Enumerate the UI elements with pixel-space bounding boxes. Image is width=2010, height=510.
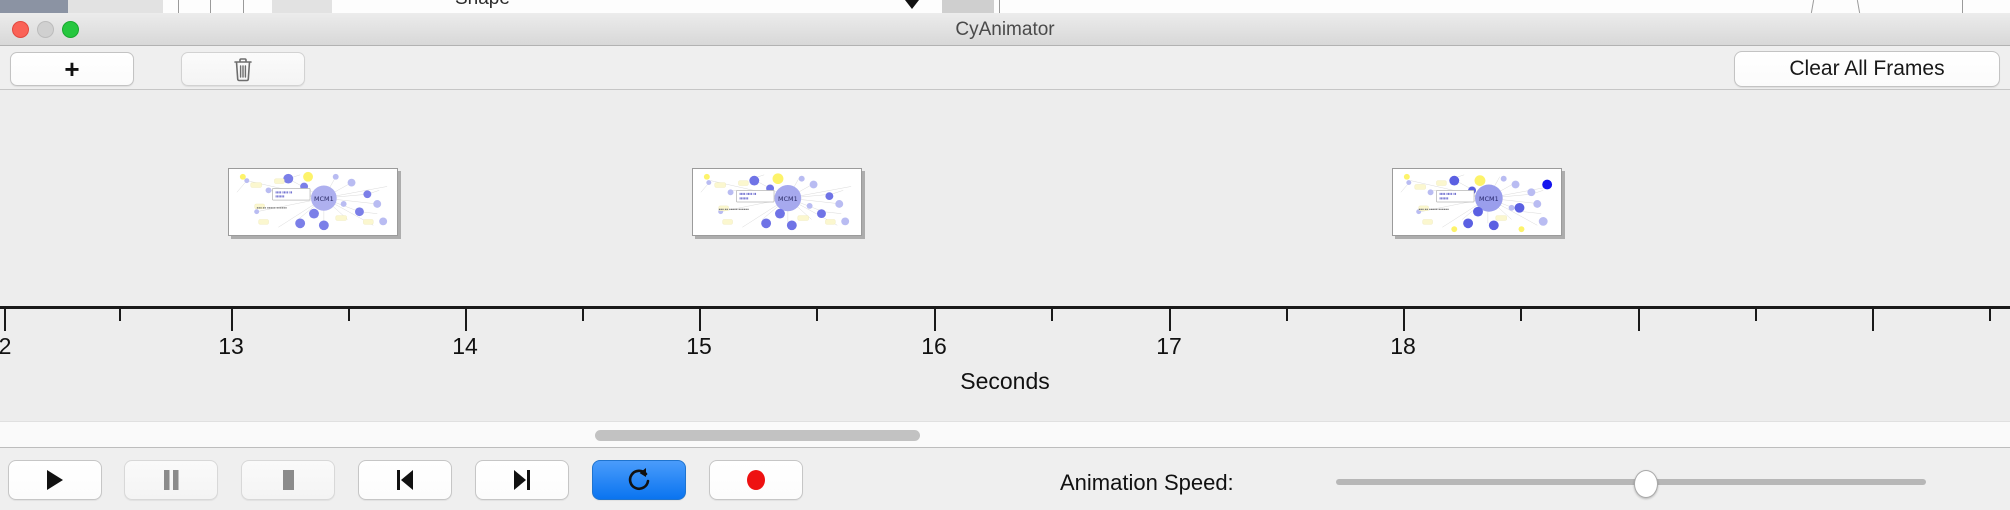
bg-chip bbox=[0, 0, 68, 13]
svg-text:▮▮▮▮▮▮: ▮▮▮▮▮▮ bbox=[1439, 196, 1449, 200]
svg-text:MCM1: MCM1 bbox=[314, 196, 334, 203]
ruler-tick-major bbox=[1872, 309, 1874, 331]
add-frame-button[interactable]: + bbox=[10, 52, 134, 86]
record-button[interactable] bbox=[709, 460, 803, 500]
svg-text:MCM1: MCM1 bbox=[1479, 196, 1499, 203]
title-bar: CyAnimator bbox=[0, 13, 2010, 46]
ruler-tick-minor bbox=[1989, 309, 1991, 321]
skip-back-icon bbox=[394, 468, 416, 492]
ruler-label: 13 bbox=[218, 333, 244, 360]
bg-shade bbox=[68, 0, 163, 13]
svg-text:▮▮▮▮ ▮▮▮▮ ▮▮: ▮▮▮▮ ▮▮▮▮ ▮▮ bbox=[739, 192, 756, 196]
bg-divider bbox=[1811, 0, 1814, 13]
playback-controls: Animation Speed: bbox=[0, 448, 2010, 510]
animation-speed-slider-track[interactable] bbox=[1336, 479, 1926, 485]
svg-text:▪▪▪ ▪▪ ▪▪▪▪▪ ▪▪▪▪▪▪: ▪▪▪ ▪▪ ▪▪▪▪▪ ▪▪▪▪▪▪ bbox=[719, 208, 749, 211]
bg-divider bbox=[210, 0, 211, 13]
bg-divider bbox=[999, 0, 1000, 13]
svg-text:MCM1: MCM1 bbox=[778, 196, 798, 203]
ruler-label: 14 bbox=[452, 333, 478, 360]
cyanimator-window: Shape CyAnimator + Clear bbox=[0, 0, 2010, 510]
ruler-tick-major bbox=[4, 309, 6, 331]
ruler-tick-minor bbox=[1286, 309, 1288, 321]
ruler-label: 2 bbox=[0, 333, 11, 360]
ruler-label: 17 bbox=[1156, 333, 1182, 360]
play-icon bbox=[44, 468, 66, 492]
ruler-tick-minor bbox=[1755, 309, 1757, 321]
timeline-panel[interactable]: MCM1 bbox=[0, 90, 2010, 421]
axis-title: Seconds bbox=[0, 368, 2010, 395]
bg-divider bbox=[1962, 0, 1963, 13]
toolbar: + Clear All Frames bbox=[0, 46, 2010, 90]
ruler-tick-minor bbox=[1051, 309, 1053, 321]
ruler-tick-minor bbox=[582, 309, 584, 321]
bg-divider bbox=[1857, 0, 1860, 13]
scrollbar-thumb[interactable] bbox=[595, 430, 920, 441]
background-window-label: Shape bbox=[455, 0, 510, 10]
stop-button[interactable] bbox=[241, 460, 335, 500]
timeline-scrollbar[interactable] bbox=[0, 421, 2010, 448]
ruler-tick-major bbox=[1169, 309, 1171, 331]
ruler-tick-major bbox=[699, 309, 701, 331]
window-title: CyAnimator bbox=[0, 13, 2010, 46]
skip-to-start-button[interactable] bbox=[358, 460, 452, 500]
background-window-strip: Shape bbox=[0, 0, 2010, 14]
ruler-tick-major bbox=[1403, 309, 1405, 331]
ruler-tick-major bbox=[231, 309, 233, 331]
loop-icon bbox=[627, 467, 651, 493]
ruler-tick-minor bbox=[816, 309, 818, 321]
bg-divider bbox=[178, 0, 179, 13]
pause-icon bbox=[161, 468, 181, 492]
trash-icon bbox=[232, 56, 254, 82]
ruler-label: 16 bbox=[921, 333, 947, 360]
ruler-tick-minor bbox=[348, 309, 350, 321]
ruler-tick-minor bbox=[119, 309, 121, 321]
skip-forward-icon bbox=[511, 468, 533, 492]
keyframe-thumbnail[interactable]: MCM1 bbox=[228, 168, 398, 236]
svg-text:▮▮▮▮▮▮: ▮▮▮▮▮▮ bbox=[739, 196, 749, 200]
ruler-tick-major bbox=[1638, 309, 1640, 331]
ruler-label: 18 bbox=[1390, 333, 1416, 360]
animation-speed-label: Animation Speed: bbox=[1060, 470, 1234, 496]
record-icon bbox=[744, 468, 768, 492]
skip-to-end-button[interactable] bbox=[475, 460, 569, 500]
bg-shade bbox=[942, 0, 994, 13]
bg-divider bbox=[243, 0, 244, 13]
pause-button[interactable] bbox=[124, 460, 218, 500]
svg-text:▮▮▮▮▮▮: ▮▮▮▮▮▮ bbox=[275, 194, 285, 198]
stop-icon bbox=[278, 468, 298, 492]
loop-button[interactable] bbox=[592, 460, 686, 500]
ruler-tick-major bbox=[465, 309, 467, 331]
clear-all-frames-button[interactable]: Clear All Frames bbox=[1734, 51, 2000, 87]
ruler-tick-major bbox=[934, 309, 936, 331]
svg-text:▮▮▮▮ ▮▮▮▮ ▮▮: ▮▮▮▮ ▮▮▮▮ ▮▮ bbox=[1439, 192, 1456, 196]
ruler-label: 15 bbox=[686, 333, 712, 360]
keyframe-thumbnail[interactable]: MCM1 bbox=[1392, 168, 1562, 236]
play-button[interactable] bbox=[8, 460, 102, 500]
svg-text:▮▮▮▮ ▮▮▮▮ ▮▮: ▮▮▮▮ ▮▮▮▮ ▮▮ bbox=[275, 190, 292, 194]
clear-all-frames-label: Clear All Frames bbox=[1789, 57, 1944, 81]
timeline-ruler bbox=[0, 306, 2010, 309]
plus-icon: + bbox=[64, 56, 79, 82]
bg-shade bbox=[272, 0, 332, 13]
ruler-tick-minor bbox=[1520, 309, 1522, 321]
svg-text:▪▪▪ ▪▪ ▪▪▪▪▪ ▪▪▪▪▪▪: ▪▪▪ ▪▪ ▪▪▪▪▪ ▪▪▪▪▪▪ bbox=[257, 206, 287, 209]
delete-frame-button[interactable] bbox=[181, 52, 305, 86]
svg-text:▪▪▪ ▪▪ ▪▪▪▪▪ ▪▪▪▪▪▪: ▪▪▪ ▪▪ ▪▪▪▪▪ ▪▪▪▪▪▪ bbox=[1419, 208, 1449, 211]
bg-marker-icon bbox=[905, 0, 919, 9]
animation-speed-slider-thumb[interactable] bbox=[1634, 470, 1658, 498]
keyframe-thumbnail[interactable]: MCM1 bbox=[692, 168, 862, 236]
